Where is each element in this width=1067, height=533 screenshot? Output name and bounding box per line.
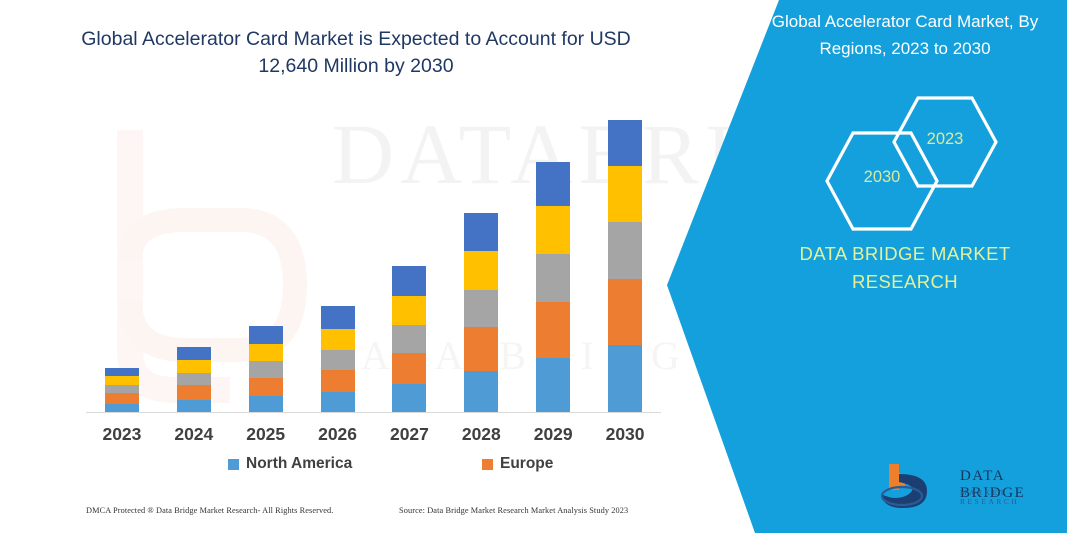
x-axis-tick-2026: 2026: [303, 424, 373, 445]
bar-2028: [464, 213, 498, 413]
x-axis-tick-2025: 2025: [231, 424, 301, 445]
legend-item-europe[interactable]: Europe: [482, 455, 553, 473]
x-axis-tick-2027: 2027: [374, 424, 444, 445]
bar-segment-2028-asia-pacific: [464, 290, 498, 328]
bar-segment-2023-south-america: [105, 376, 139, 384]
chart-legend: North AmericaEurope: [86, 455, 661, 479]
legend-label: North America: [246, 455, 352, 473]
bar-segment-2030-asia-pacific: [608, 222, 642, 279]
bar-segment-2025-middle-east-and-africa: [249, 326, 283, 345]
bar-segment-2028-south-america: [464, 251, 498, 290]
bar-2024: [177, 347, 211, 413]
x-axis-line: [86, 412, 661, 413]
bar-segment-2029-asia-pacific: [536, 254, 570, 302]
bar-segment-2030-south-america: [608, 166, 642, 222]
bar-segment-2024-europe: [177, 385, 211, 400]
bar-2025: [249, 326, 283, 413]
hexagon-2030-label: 2030: [822, 168, 942, 187]
bar-segment-2030-middle-east-and-africa: [608, 120, 642, 166]
panel-title: Global Accelerator Card Market, By Regio…: [760, 8, 1050, 62]
legend-swatch-icon: [482, 459, 493, 470]
panel-brand-line2: RESEARCH: [760, 268, 1050, 296]
bar-segment-2026-asia-pacific: [321, 350, 355, 370]
bar-segment-2027-north-america: [392, 384, 426, 413]
bar-segment-2029-middle-east-and-africa: [536, 162, 570, 206]
bar-segment-2026-middle-east-and-africa: [321, 306, 355, 329]
x-axis-tick-2030: 2030: [590, 424, 660, 445]
bar-segment-2023-asia-pacific: [105, 385, 139, 393]
chart-title: Global Accelerator Card Market is Expect…: [66, 26, 646, 80]
bar-segment-2024-asia-pacific: [177, 373, 211, 385]
legend-label: Europe: [500, 455, 553, 473]
chart-plot-area: [86, 120, 661, 413]
bar-segment-2027-asia-pacific: [392, 325, 426, 353]
bar-segment-2023-europe: [105, 393, 139, 404]
bar-segment-2029-europe: [536, 302, 570, 358]
bar-segment-2025-north-america: [249, 396, 283, 413]
bar-segment-2025-europe: [249, 378, 283, 397]
bar-2030: [608, 120, 642, 413]
bar-segment-2025-south-america: [249, 344, 283, 361]
panel-brand-text: DATA BRIDGE MARKET RESEARCH: [760, 240, 1050, 296]
x-axis-labels: 20232024202520262027202820292030: [86, 424, 661, 454]
panel-brand-line1: DATA BRIDGE MARKET: [760, 240, 1050, 268]
bar-segment-2028-middle-east-and-africa: [464, 213, 498, 252]
bar-segment-2024-south-america: [177, 360, 211, 373]
bar-2029: [536, 162, 570, 413]
bar-segment-2027-south-america: [392, 296, 426, 325]
hexagon-group: 2023 2030: [822, 92, 1052, 222]
bar-segment-2024-middle-east-and-africa: [177, 347, 211, 360]
footer-source: Source: Data Bridge Market Research Mark…: [399, 506, 628, 515]
bar-segment-2030-europe: [608, 279, 642, 345]
bar-segment-2029-south-america: [536, 206, 570, 254]
bar-segment-2026-europe: [321, 370, 355, 392]
x-axis-tick-2024: 2024: [159, 424, 229, 445]
bar-segment-2026-south-america: [321, 329, 355, 350]
bar-segment-2030-north-america: [608, 345, 642, 413]
footer-copyright: DMCA Protected ® Data Bridge Market Rese…: [86, 506, 333, 515]
x-axis-tick-2028: 2028: [446, 424, 516, 445]
bar-segment-2025-asia-pacific: [249, 361, 283, 377]
bar-2026: [321, 306, 355, 413]
bar-2023: [105, 368, 139, 413]
legend-item-north-america[interactable]: North America: [228, 455, 352, 473]
bar-segment-2023-middle-east-and-africa: [105, 368, 139, 376]
legend-swatch-icon: [228, 459, 239, 470]
bar-segment-2027-middle-east-and-africa: [392, 266, 426, 296]
bar-2027: [392, 266, 426, 413]
bar-segment-2026-north-america: [321, 392, 355, 413]
x-axis-tick-2023: 2023: [87, 424, 157, 445]
x-axis-tick-2029: 2029: [518, 424, 588, 445]
data-bridge-logo-subtitle: MARKET RESEARCH: [960, 488, 1067, 506]
bar-segment-2029-north-america: [536, 358, 570, 414]
bar-segment-2028-europe: [464, 327, 498, 370]
infographic-root: DATABRIDGE DATA BRIDGE RESEARCH Global A…: [0, 0, 1067, 533]
bar-segment-2027-europe: [392, 353, 426, 384]
footer: DMCA Protected ® Data Bridge Market Rese…: [0, 506, 700, 528]
bar-segment-2028-north-america: [464, 371, 498, 413]
